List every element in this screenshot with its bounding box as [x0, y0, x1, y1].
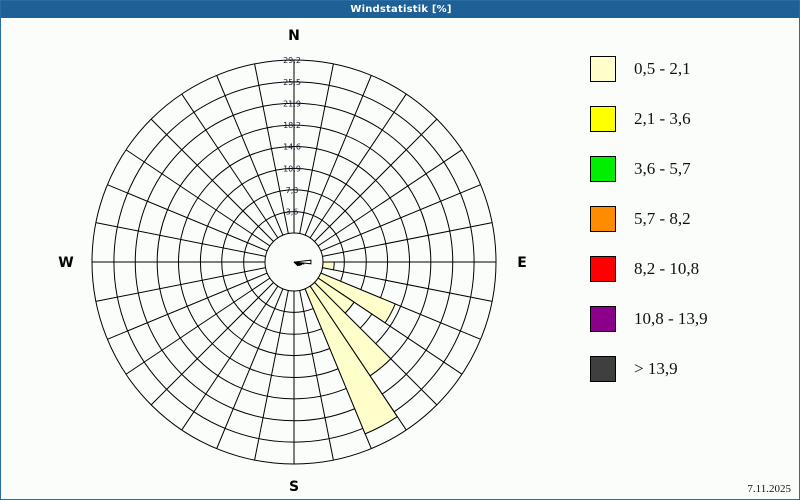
windrose-window: Windstatistik [%] 3,67,310,914,618,221,9…: [0, 0, 800, 500]
legend-row[interactable]: 0,5 - 2,1: [590, 44, 790, 94]
radial-tick-label: 18,2: [283, 121, 301, 130]
legend-swatch: [590, 356, 616, 382]
calm-center-marker: [294, 260, 311, 265]
legend-swatch: [590, 256, 616, 282]
radial-tick-label: 10,9: [283, 164, 301, 173]
date-stamp: 7.11.2025: [747, 483, 791, 495]
radial-tick-label: 29,2: [283, 56, 301, 65]
legend-row[interactable]: 3,6 - 5,7: [590, 144, 790, 194]
legend-label: 2,1 - 3,6: [634, 109, 691, 129]
legend-row[interactable]: > 13,9: [590, 344, 790, 394]
legend-swatch: [590, 106, 616, 132]
chart-canvas: 3,67,310,914,618,221,925,529,2 NESW 0,5 …: [2, 19, 799, 499]
legend-swatch: [590, 56, 616, 82]
radial-tick-label: 7,3: [286, 186, 299, 195]
grid-spoke: [151, 119, 273, 241]
radial-tick-label: 14,6: [283, 143, 301, 152]
legend-row[interactable]: 10,8 - 13,9: [590, 294, 790, 344]
cardinal-label-w: W: [58, 255, 73, 271]
radial-tick-label: 25,5: [283, 78, 301, 87]
radial-tick-label: 3,6: [286, 208, 299, 217]
window-titlebar: Windstatistik [%]: [1, 1, 800, 18]
legend-row[interactable]: 5,7 - 8,2: [590, 194, 790, 244]
radial-tick-labels: 3,67,310,914,618,221,925,529,2: [283, 56, 301, 217]
legend-row[interactable]: 2,1 - 3,6: [590, 94, 790, 144]
legend-swatch: [590, 306, 616, 332]
cardinal-label-s: S: [289, 479, 299, 495]
cardinal-label-e: E: [517, 255, 527, 271]
wind-petal[interactable]: [322, 262, 334, 270]
grid-spoke: [151, 283, 273, 405]
legend-label: 10,8 - 13,9: [634, 309, 708, 329]
speed-legend: 0,5 - 2,12,1 - 3,63,6 - 5,75,7 - 8,28,2 …: [590, 44, 790, 394]
legend-label: 5,7 - 8,2: [634, 209, 691, 229]
legend-label: 0,5 - 2,1: [634, 59, 691, 79]
grid-spoke: [315, 119, 437, 241]
legend-label: 8,2 - 10,8: [634, 259, 699, 279]
legend-swatch: [590, 206, 616, 232]
legend-swatch: [590, 156, 616, 182]
legend-label: > 13,9: [634, 359, 678, 379]
legend-label: 3,6 - 5,7: [634, 159, 691, 179]
legend-row[interactable]: 8,2 - 10,8: [590, 244, 790, 294]
cardinal-label-n: N: [288, 28, 300, 44]
radial-tick-label: 21,9: [283, 99, 301, 108]
